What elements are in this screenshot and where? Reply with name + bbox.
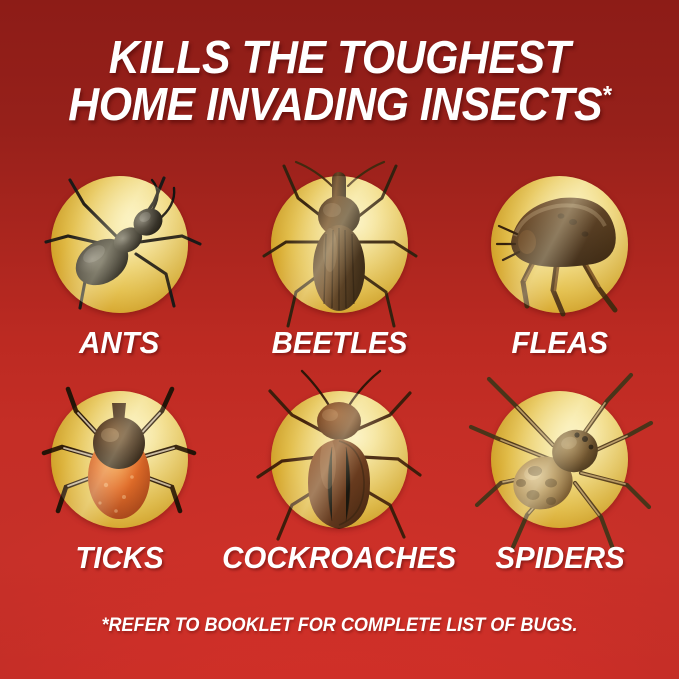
flea-icon — [465, 150, 655, 340]
tick-icon — [24, 365, 214, 555]
headline-line-1: KILLS THE TOUGHEST — [24, 34, 655, 81]
pest-cell-cockroaches[interactable]: COCKROACHES — [216, 391, 462, 606]
pest-cell-ants[interactable]: ANTS — [22, 176, 216, 391]
beetle-icon — [244, 150, 434, 340]
pest-cell-spiders[interactable]: SPIDERS — [463, 391, 657, 606]
pest-label-fleas: FLEAS — [512, 325, 609, 361]
pest-cell-fleas[interactable]: FLEAS — [463, 176, 657, 391]
asterisk-marker: * — [602, 82, 611, 110]
page-title: KILLS THE TOUGHEST HOME INVADING INSECTS… — [24, 34, 655, 128]
pest-badge-spiders — [491, 391, 628, 528]
cockroach-icon — [244, 365, 434, 555]
pest-badge-ticks — [51, 391, 188, 528]
pest-badge-beetles — [271, 176, 408, 313]
pest-grid: ANTS — [22, 176, 657, 606]
pest-label-ants: ANTS — [79, 325, 159, 361]
headline-line-2: HOME INVADING INSECTS* — [24, 81, 655, 128]
footnote-text: *REFER TO BOOKLET FOR COMPLETE LIST OF B… — [17, 615, 662, 637]
pest-badge-fleas — [491, 176, 628, 313]
pest-cell-ticks[interactable]: TICKS — [22, 391, 216, 606]
ant-icon — [24, 150, 214, 340]
pest-label-ticks: TICKS — [75, 540, 163, 576]
pest-label-cockroaches: COCKROACHES — [223, 540, 457, 576]
pest-label-beetles: BEETLES — [272, 325, 408, 361]
pest-label-spiders: SPIDERS — [495, 540, 624, 576]
spider-icon — [465, 365, 655, 555]
pest-control-promo-panel: KILLS THE TOUGHEST HOME INVADING INSECTS… — [0, 0, 679, 679]
pest-cell-beetles[interactable]: BEETLES — [216, 176, 462, 391]
pest-badge-ants — [51, 176, 188, 313]
pest-badge-cockroaches — [271, 391, 408, 528]
